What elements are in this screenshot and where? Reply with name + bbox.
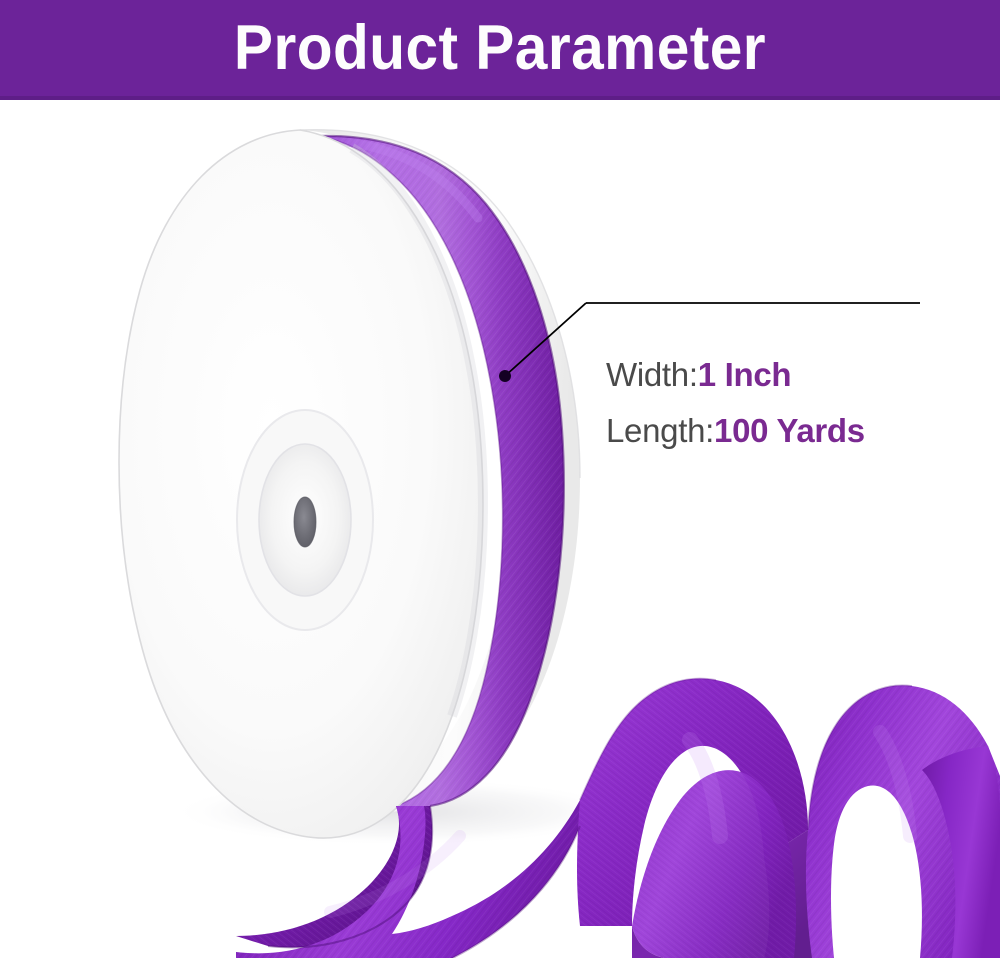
header-banner: Product Parameter <box>0 0 1000 100</box>
ribbon-spool-illustration <box>0 100 1000 958</box>
product-photo-stage: Width:1 Inch Length:100 Yards <box>0 100 1000 958</box>
callout-length-value: 100 Yards <box>714 412 865 449</box>
callout-anchor-dot <box>499 370 511 382</box>
callout-length: Length:100 Yards <box>606 412 865 450</box>
callout-length-label: Length: <box>606 412 714 449</box>
callout-width-label: Width: <box>606 356 698 393</box>
callout-width: Width:1 Inch <box>606 356 791 394</box>
product-parameter-image: Product Parameter <box>0 0 1000 958</box>
callout-width-value: 1 Inch <box>698 356 792 393</box>
page-title: Product Parameter <box>35 0 965 96</box>
spool-hub <box>237 410 373 630</box>
